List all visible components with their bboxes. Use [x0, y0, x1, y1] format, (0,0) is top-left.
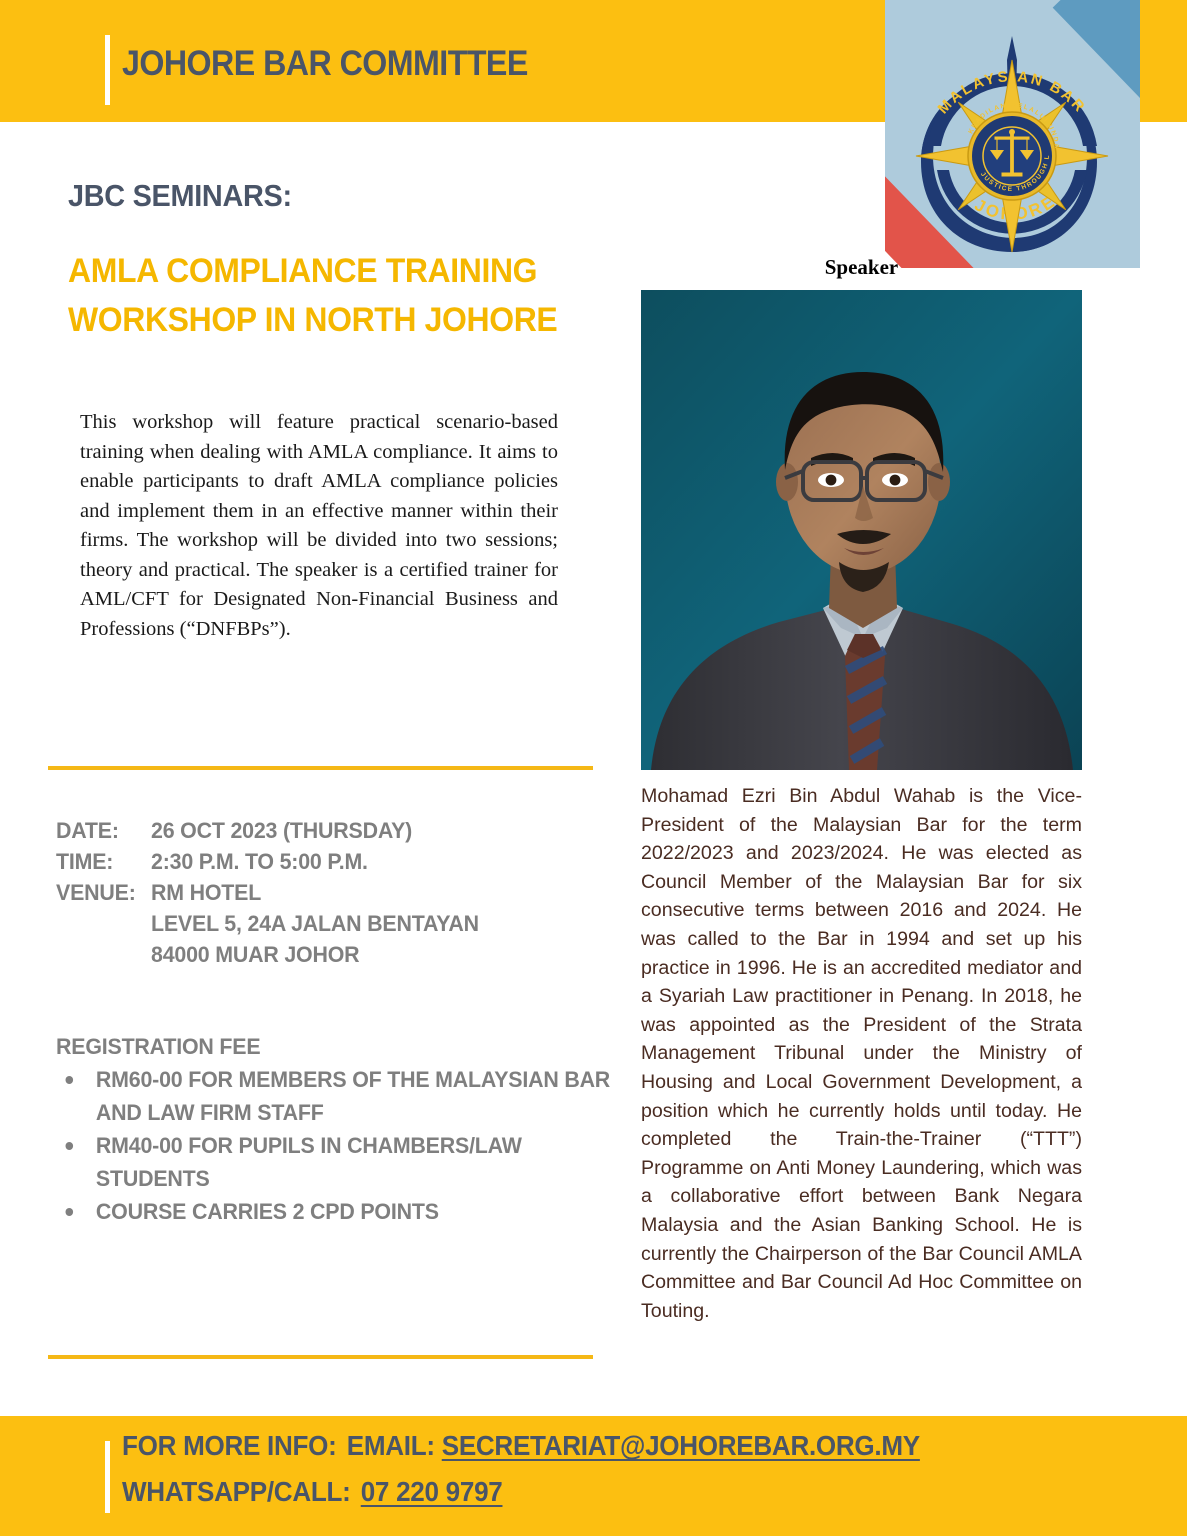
- speaker-label: Speaker: [641, 255, 1082, 280]
- list-item: RM60-00 FOR MEMBERS OF THE MALAYSIAN BAR…: [56, 1063, 614, 1129]
- footer-phone-link[interactable]: 07 220 9797: [361, 1476, 503, 1507]
- footer-email-row: FOR MORE INFO:EMAIL: SECRETARIAT@JOHOREB…: [122, 1430, 920, 1462]
- header-right-yellow-corner: [1140, 0, 1187, 122]
- detail-row-date: DATE: 26 OCT 2023 (THURSDAY): [56, 815, 479, 846]
- divider-below-registration: [48, 1355, 593, 1359]
- detail-value-time: 2:30 P.M. TO 5:00 P.M.: [151, 846, 368, 877]
- detail-value-venue: RM HOTEL: [151, 877, 261, 908]
- registration-fee-heading: REGISTRATION FEE: [56, 1030, 607, 1063]
- detail-row-venue-city: 84000 MUAR JOHOR: [56, 939, 479, 970]
- footer-email-link[interactable]: SECRETARIAT@JOHOREBAR.ORG.MY: [442, 1430, 920, 1461]
- registration-fee-list: RM60-00 FOR MEMBERS OF THE MALAYSIAN BAR…: [56, 1063, 607, 1228]
- detail-value-date: 26 OCT 2023 (THURSDAY): [151, 815, 412, 846]
- detail-label-blank-2: [56, 939, 151, 970]
- footer-info-prefix: FOR MORE INFO:: [122, 1430, 337, 1461]
- footer-whatsapp-row: WHATSAPP/CALL:07 220 9797: [122, 1476, 502, 1508]
- footer-whatsapp-label: WHATSAPP/CALL:: [122, 1476, 351, 1507]
- event-details-block: DATE: 26 OCT 2023 (THURSDAY) TIME: 2:30 …: [56, 815, 479, 970]
- speaker-portrait-illustration: [641, 290, 1082, 770]
- logo-graphic-box: JOHORE MALAYSIAN BAR: [885, 0, 1140, 268]
- page-title: JOHORE BAR COMMITTEE: [122, 44, 528, 84]
- malaysian-bar-johore-logo-icon: JOHORE MALAYSIAN BAR: [907, 30, 1117, 258]
- detail-label-venue: VENUE:: [56, 877, 151, 908]
- speaker-photo: [641, 290, 1082, 770]
- header-accent-bar: [105, 35, 110, 105]
- seminar-eyebrow: JBC SEMINARS:: [68, 178, 292, 214]
- footer-email-label: EMAIL:: [347, 1430, 435, 1461]
- list-item: RM40-00 FOR PUPILS IN CHAMBERS/LAW STUDE…: [56, 1129, 614, 1195]
- divider-above-details: [48, 766, 593, 770]
- seminar-title-line-1: AMLA COMPLIANCE TRAINING: [68, 247, 594, 296]
- detail-label-time: TIME:: [56, 846, 151, 877]
- detail-label-blank-1: [56, 908, 151, 939]
- intro-paragraph: This workshop will feature practical sce…: [80, 408, 558, 644]
- seminar-title: AMLA COMPLIANCE TRAINING WORKSHOP IN NOR…: [68, 247, 594, 345]
- speaker-bio: Mohamad Ezri Bin Abdul Wahab is the Vice…: [641, 782, 1082, 1325]
- detail-label-date: DATE:: [56, 815, 151, 846]
- footer-accent-bar: [105, 1441, 110, 1513]
- seminar-title-line-2: WORKSHOP IN NORTH JOHORE: [68, 296, 594, 345]
- detail-row-time: TIME: 2:30 P.M. TO 5:00 P.M.: [56, 846, 479, 877]
- detail-value-venue-street: LEVEL 5, 24A JALAN BENTAYAN: [151, 908, 479, 939]
- registration-fee-block: REGISTRATION FEE RM60-00 FOR MEMBERS OF …: [56, 1030, 607, 1228]
- detail-value-venue-city: 84000 MUAR JOHOR: [151, 939, 359, 970]
- detail-row-venue-street: LEVEL 5, 24A JALAN BENTAYAN: [56, 908, 479, 939]
- detail-row-venue: VENUE: RM HOTEL: [56, 877, 479, 908]
- list-item: COURSE CARRIES 2 CPD POINTS: [56, 1195, 614, 1228]
